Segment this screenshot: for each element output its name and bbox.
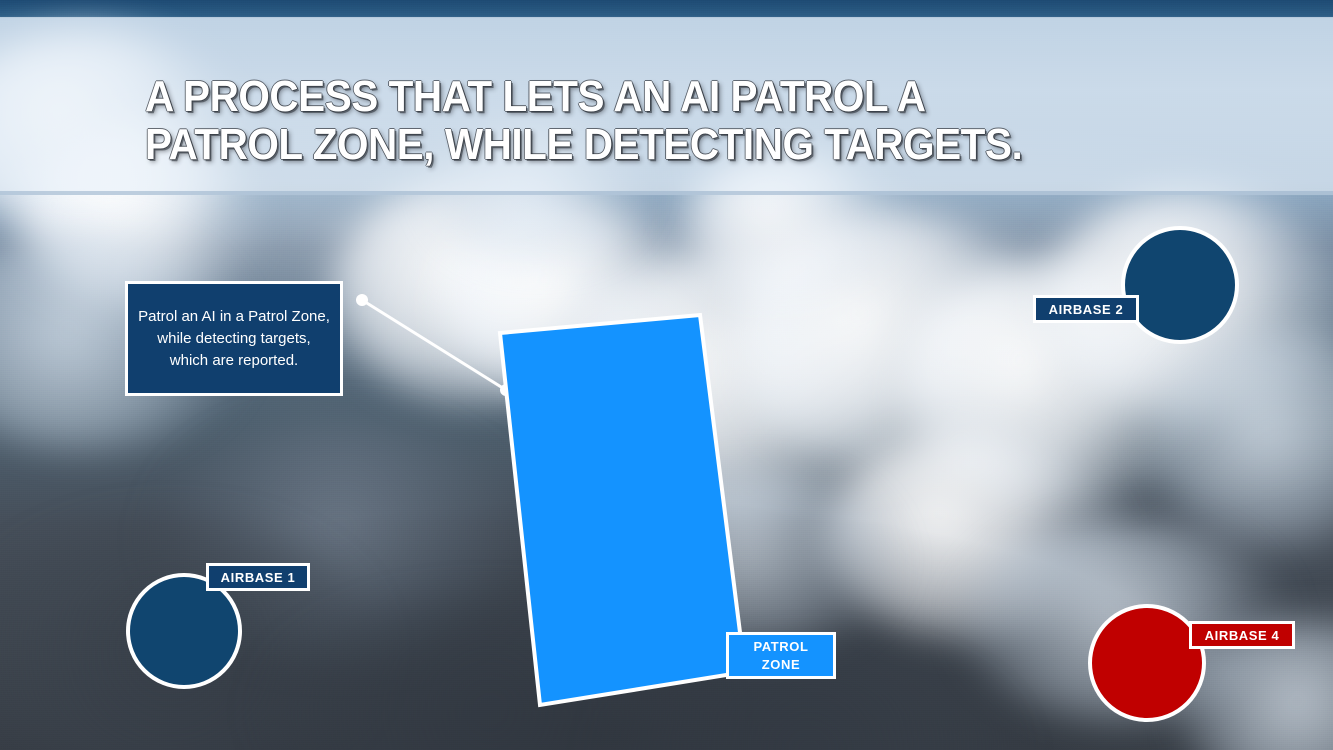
airbase-4-label-text: AIRBASE 4 xyxy=(1205,628,1280,643)
callout-box[interactable]: Patrol an AI in a Patrol Zone, while det… xyxy=(125,281,343,396)
callout-text: Patrol an AI in a Patrol Zone, while det… xyxy=(138,306,330,372)
airbase-2-label-text: AIRBASE 2 xyxy=(1049,302,1124,317)
slide-canvas: A PROCESS THAT LETS AN AI PATROL A PATRO… xyxy=(0,0,1333,750)
callout-line-2: while detecting targets, xyxy=(138,328,330,350)
airbase-2-label[interactable]: AIRBASE 2 xyxy=(1033,295,1139,323)
airbase-1-label-text: AIRBASE 1 xyxy=(221,570,296,585)
connector-line xyxy=(362,300,506,390)
callout-connector xyxy=(356,294,512,396)
connector-dot-start xyxy=(356,294,368,306)
patrol-zone-label[interactable]: PATROL ZONE xyxy=(726,632,836,679)
airbase-4-circle[interactable] xyxy=(1090,606,1204,720)
patrol-zone-label-line-1: PATROL xyxy=(753,638,808,656)
patrol-zone-polygon[interactable] xyxy=(500,315,745,705)
patrol-zone-label-line-2: ZONE xyxy=(762,656,801,674)
airbase-4-label[interactable]: AIRBASE 4 xyxy=(1189,621,1295,649)
airbase-1-circle[interactable] xyxy=(128,575,240,687)
airbase-1-label[interactable]: AIRBASE 1 xyxy=(206,563,310,591)
airbase-2-circle[interactable] xyxy=(1123,228,1237,342)
callout-line-1: Patrol an AI in a Patrol Zone, xyxy=(138,306,330,328)
callout-line-3: which are reported. xyxy=(138,350,330,372)
